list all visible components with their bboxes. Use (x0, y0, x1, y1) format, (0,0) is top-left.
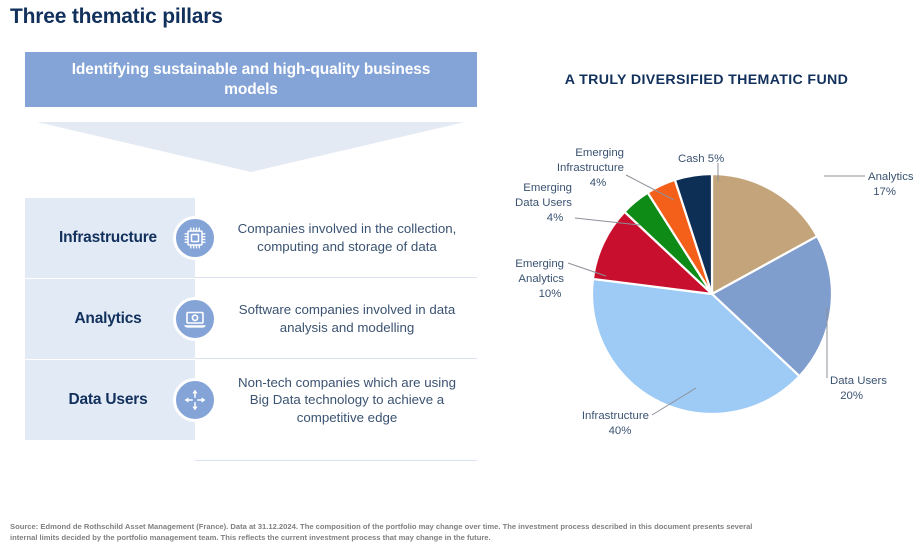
pillar-row-analytics[interactable]: Analytics Software companies involved in… (25, 279, 477, 359)
pie-label-emerging-data-users-l3: 4% (547, 212, 563, 224)
pillar-name: Analytics (74, 310, 145, 328)
microchip-icon (173, 216, 217, 260)
pie-label-infrastructure-pct: 40% (609, 425, 632, 437)
pillars-table: Infrastructure (25, 198, 477, 460)
pie-slices[interactable] (592, 174, 832, 414)
pillar-label-cell: Infrastructure (25, 198, 195, 278)
pie-label-emerging-infrastructure-l2: Infrastructure (557, 162, 624, 174)
pillar-description: Software companies involved in data anal… (231, 301, 463, 336)
pie-label-analytics-name: Analytics (868, 171, 913, 183)
pie-label-data-users-pct: 20% (840, 390, 863, 402)
pie-label-emerging-analytics-l1: Emerging (515, 258, 564, 270)
pie-label-analytics-pct: 17% (873, 186, 896, 198)
banner-identifying-models: Identifying sustainable and high-quality… (25, 52, 477, 107)
pillar-label-cell: Analytics (25, 279, 195, 359)
pillar-description: Companies involved in the collection, co… (231, 220, 463, 255)
pillar-name: Infrastructure (59, 229, 161, 247)
pillar-label-cell: Data Users (25, 360, 195, 440)
funnel-triangle-icon (25, 120, 477, 175)
pillars-bottom-divider (195, 460, 477, 461)
pie-label-emerging-data-users-l2: Data Users (515, 197, 572, 209)
pie-label-infrastructure-name: Infrastructure (582, 410, 649, 422)
pie-label-data-users-name: Data Users (830, 375, 887, 387)
pillar-description-cell: Companies involved in the collection, co… (195, 198, 477, 278)
chart-title: A TRULY DIVERSIFIED THEMATIC FUND (500, 72, 913, 88)
pie-label-emerging-infrastructure-l1: Emerging (575, 147, 624, 159)
pie-label-emerging-analytics-l3: 10% (539, 288, 562, 300)
row-divider (195, 277, 477, 278)
pillar-description: Non-tech companies which are using Big D… (231, 374, 463, 427)
pie-label-emerging-infrastructure-l3: 4% (590, 177, 606, 189)
footnote-line-2: internal limits decided by the portfolio… (10, 532, 905, 543)
banner-text: Identifying sustainable and high-quality… (43, 60, 459, 100)
footnote-line-1: Source: Edmond de Rothschild Asset Manag… (10, 521, 905, 532)
four-arrows-icon (173, 378, 217, 422)
laptop-icon (173, 297, 217, 341)
pillar-description-cell: Software companies involved in data anal… (195, 279, 477, 359)
slide-root: Three thematic pillars Identifying susta… (0, 0, 913, 547)
pillar-description-cell: Non-tech companies which are using Big D… (195, 360, 477, 440)
pie-label-emerging-analytics-l2: Analytics (518, 273, 564, 285)
row-divider (195, 358, 477, 359)
pie-label-emerging-data-users-l1: Emerging (523, 182, 572, 194)
pie-chart[interactable]: Analytics 17% Data Users 20% Infrastruct… (500, 118, 913, 458)
pie-label-cash: Cash 5% (678, 153, 724, 165)
page-title: Three thematic pillars (10, 5, 223, 29)
footnote: Source: Edmond de Rothschild Asset Manag… (10, 521, 905, 544)
pillar-name: Data Users (69, 391, 152, 409)
pillar-row-data-users[interactable]: Data Users (25, 360, 477, 440)
pillar-row-infrastructure[interactable]: Infrastructure (25, 198, 477, 278)
